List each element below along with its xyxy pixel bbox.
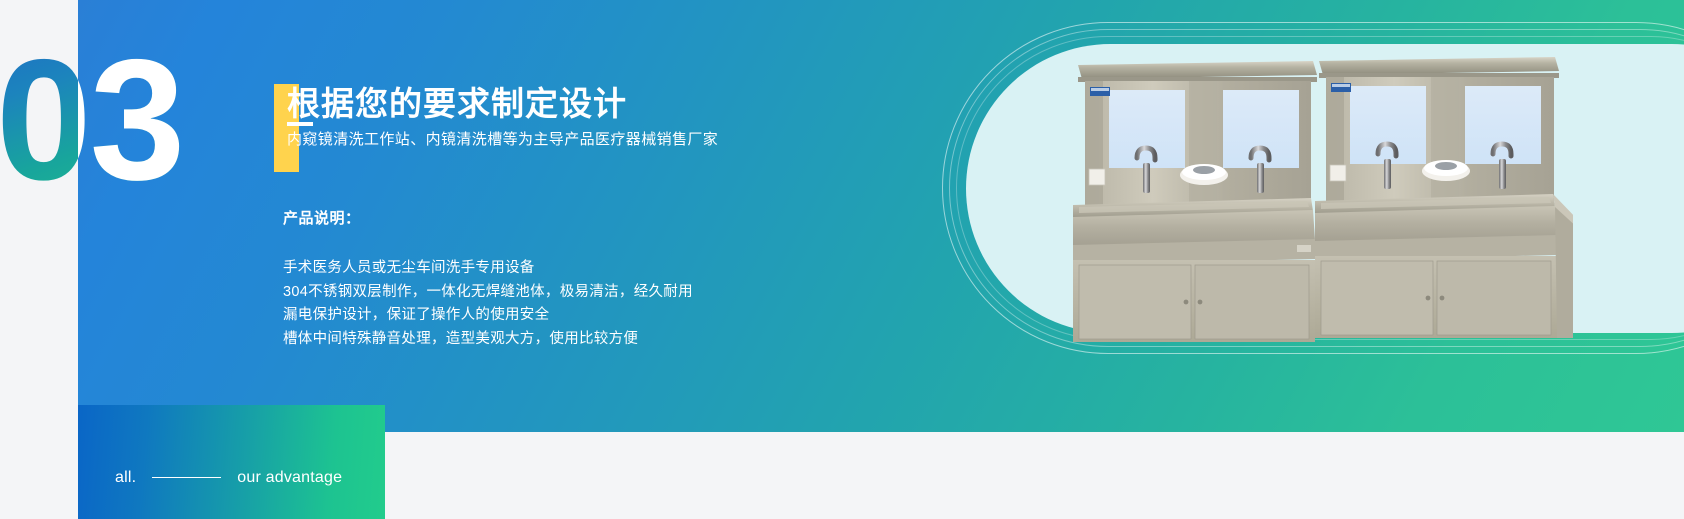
description-line: 304不锈钢双层制作，一体化无焊缝池体，极易清洁，经久耐用 [283, 281, 693, 305]
description-block: 产品说明： 手术医务人员或无尘车间洗手专用设备 304不锈钢双层制作，一体化无焊… [283, 207, 693, 351]
page-title: 根据您的要求制定设计 [287, 84, 718, 124]
page-subtitle: 内窥镜清洗工作站、内镜清洗槽等为主导产品医疗器械销售厂家 [287, 128, 718, 149]
description-line: 槽体中间特殊静音处理，造型美观大方，使用比较方便 [283, 328, 693, 352]
footer-left-label: all. [115, 469, 136, 487]
description-line: 漏电保护设计，保证了操作人的使用安全 [283, 304, 693, 328]
footer-bar: all. our advantage [78, 405, 385, 519]
product-image [1073, 55, 1573, 345]
description-line: 手术医务人员或无尘车间洗手专用设备 [283, 257, 693, 281]
footer-bar-content: all. our advantage [115, 469, 342, 487]
headline-block: 根据您的要求制定设计 内窥镜清洗工作站、内镜清洗槽等为主导产品医疗器械销售厂家 [274, 84, 718, 149]
title-divider [287, 122, 313, 126]
description-heading: 产品说明： [283, 207, 693, 228]
footer-divider-line [152, 477, 221, 478]
footer-right-label: our advantage [237, 469, 342, 487]
main-panel: 根据您的要求制定设计 内窥镜清洗工作站、内镜清洗槽等为主导产品医疗器械销售厂家 … [78, 0, 1684, 432]
slide-index-number: 03 [0, 34, 183, 206]
slide-canvas: 根据您的要求制定设计 内窥镜清洗工作站、内镜清洗槽等为主导产品医疗器械销售厂家 … [0, 0, 1684, 519]
